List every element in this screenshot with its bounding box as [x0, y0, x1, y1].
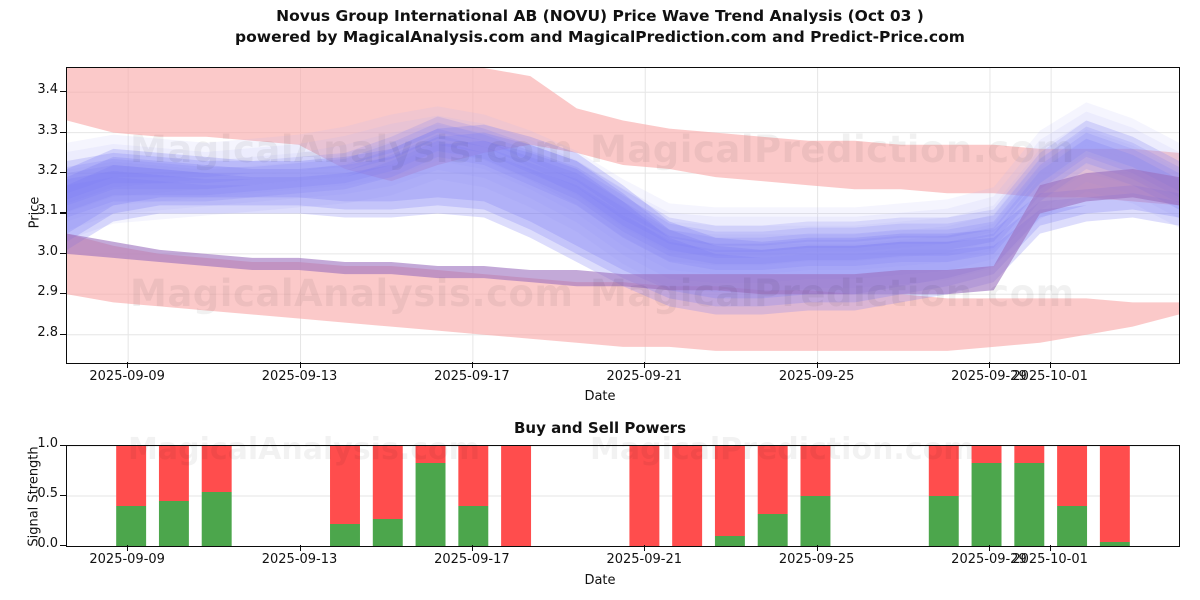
y-tick-label: 0.0: [14, 536, 58, 551]
bar-buy-segment: [373, 519, 403, 546]
y-tick-mark: [60, 445, 66, 446]
x-tick-mark: [644, 545, 645, 551]
x-tick-mark: [644, 362, 645, 368]
x-tick-mark: [127, 545, 128, 551]
bar-buy-segment: [116, 506, 146, 546]
x-tick-mark: [989, 545, 990, 551]
x-tick-mark: [127, 362, 128, 368]
x-tick-mark: [300, 545, 301, 551]
y-tick-label: 3.1: [14, 203, 58, 218]
buy-sell-svg: [67, 446, 1179, 546]
bar-sell-segment: [373, 446, 403, 519]
buy-sell-plot: [66, 445, 1180, 547]
bar-buy-segment: [1100, 542, 1130, 546]
bar-sell-segment: [758, 446, 788, 514]
x-tick-label: 2025-09-13: [245, 369, 355, 384]
bar-sell-segment: [1014, 446, 1044, 463]
x-tick-mark: [300, 362, 301, 368]
bar-sell-segment: [458, 446, 488, 506]
y-tick-label: 3.2: [14, 163, 58, 178]
y-tick-mark: [60, 132, 66, 133]
y-tick-mark: [60, 334, 66, 335]
bar-buy-segment: [972, 463, 1002, 546]
x-tick-mark: [1050, 545, 1051, 551]
y-tick-label: 3.3: [14, 123, 58, 138]
x-tick-label: 2025-09-09: [72, 369, 182, 384]
y-tick-mark: [60, 212, 66, 213]
y-tick-mark: [60, 91, 66, 92]
bar-buy-segment: [202, 492, 232, 546]
y-tick-mark: [60, 293, 66, 294]
x-tick-label: 2025-09-21: [589, 369, 699, 384]
price-x-axis-label: Date: [0, 389, 1200, 404]
x-tick-mark: [472, 545, 473, 551]
x-tick-mark: [472, 362, 473, 368]
bar-sell-segment: [159, 446, 189, 501]
price-wave-plot: [66, 67, 1180, 364]
bar-buy-segment: [758, 514, 788, 546]
x-tick-mark: [817, 545, 818, 551]
y-tick-label: 3.0: [14, 244, 58, 259]
buy-sell-panel: Buy and Sell Powers Signal Strength Date…: [0, 405, 1200, 600]
bar-buy-segment: [330, 524, 360, 546]
bar-sell-segment: [1100, 446, 1130, 542]
x-tick-label: 2025-09-21: [589, 552, 699, 567]
signal-x-axis-label: Date: [0, 573, 1200, 588]
bar-buy-segment: [458, 506, 488, 546]
x-tick-label: 2025-09-09: [72, 552, 182, 567]
bar-buy-segment: [800, 496, 830, 546]
y-tick-label: 0.5: [14, 486, 58, 501]
bar-buy-segment: [416, 463, 446, 546]
y-tick-label: 1.0: [14, 436, 58, 451]
price-wave-panel: Price Date 2.82.93.03.13.23.33.4 2025-09…: [0, 0, 1200, 405]
x-tick-label: 2025-10-01: [995, 552, 1105, 567]
bar-sell-segment: [800, 446, 830, 496]
y-tick-mark: [60, 253, 66, 254]
bar-buy-segment: [1014, 463, 1044, 546]
bar-sell-segment: [672, 446, 702, 546]
y-tick-mark: [60, 495, 66, 496]
bar-sell-segment: [202, 446, 232, 492]
price-wave-svg: [67, 68, 1179, 363]
x-tick-label: 2025-09-25: [762, 552, 872, 567]
bar-buy-segment: [929, 496, 959, 546]
x-tick-mark: [1050, 362, 1051, 368]
x-tick-label: 2025-09-17: [417, 552, 527, 567]
buy-sell-title: Buy and Sell Powers: [0, 419, 1200, 437]
bar-buy-segment: [715, 536, 745, 546]
bar-sell-segment: [972, 446, 1002, 463]
y-tick-mark: [60, 545, 66, 546]
chart-page: Novus Group International AB (NOVU) Pric…: [0, 0, 1200, 600]
x-tick-mark: [817, 362, 818, 368]
bar-buy-segment: [1057, 506, 1087, 546]
y-tick-mark: [60, 172, 66, 173]
x-tick-label: 2025-09-13: [245, 552, 355, 567]
bar-sell-segment: [715, 446, 745, 536]
bar-sell-segment: [929, 446, 959, 496]
y-tick-label: 2.9: [14, 284, 58, 299]
x-tick-mark: [989, 362, 990, 368]
x-tick-label: 2025-09-25: [762, 369, 872, 384]
x-tick-label: 2025-10-01: [995, 369, 1105, 384]
bar-sell-segment: [1057, 446, 1087, 506]
bar-buy-segment: [159, 501, 189, 546]
y-tick-label: 2.8: [14, 325, 58, 340]
bar-sell-segment: [116, 446, 146, 506]
bar-sell-segment: [416, 446, 446, 463]
bar-sell-segment: [330, 446, 360, 524]
x-tick-label: 2025-09-17: [417, 369, 527, 384]
bar-sell-segment: [501, 446, 531, 546]
y-tick-label: 3.4: [14, 82, 58, 97]
bar-sell-segment: [629, 446, 659, 546]
